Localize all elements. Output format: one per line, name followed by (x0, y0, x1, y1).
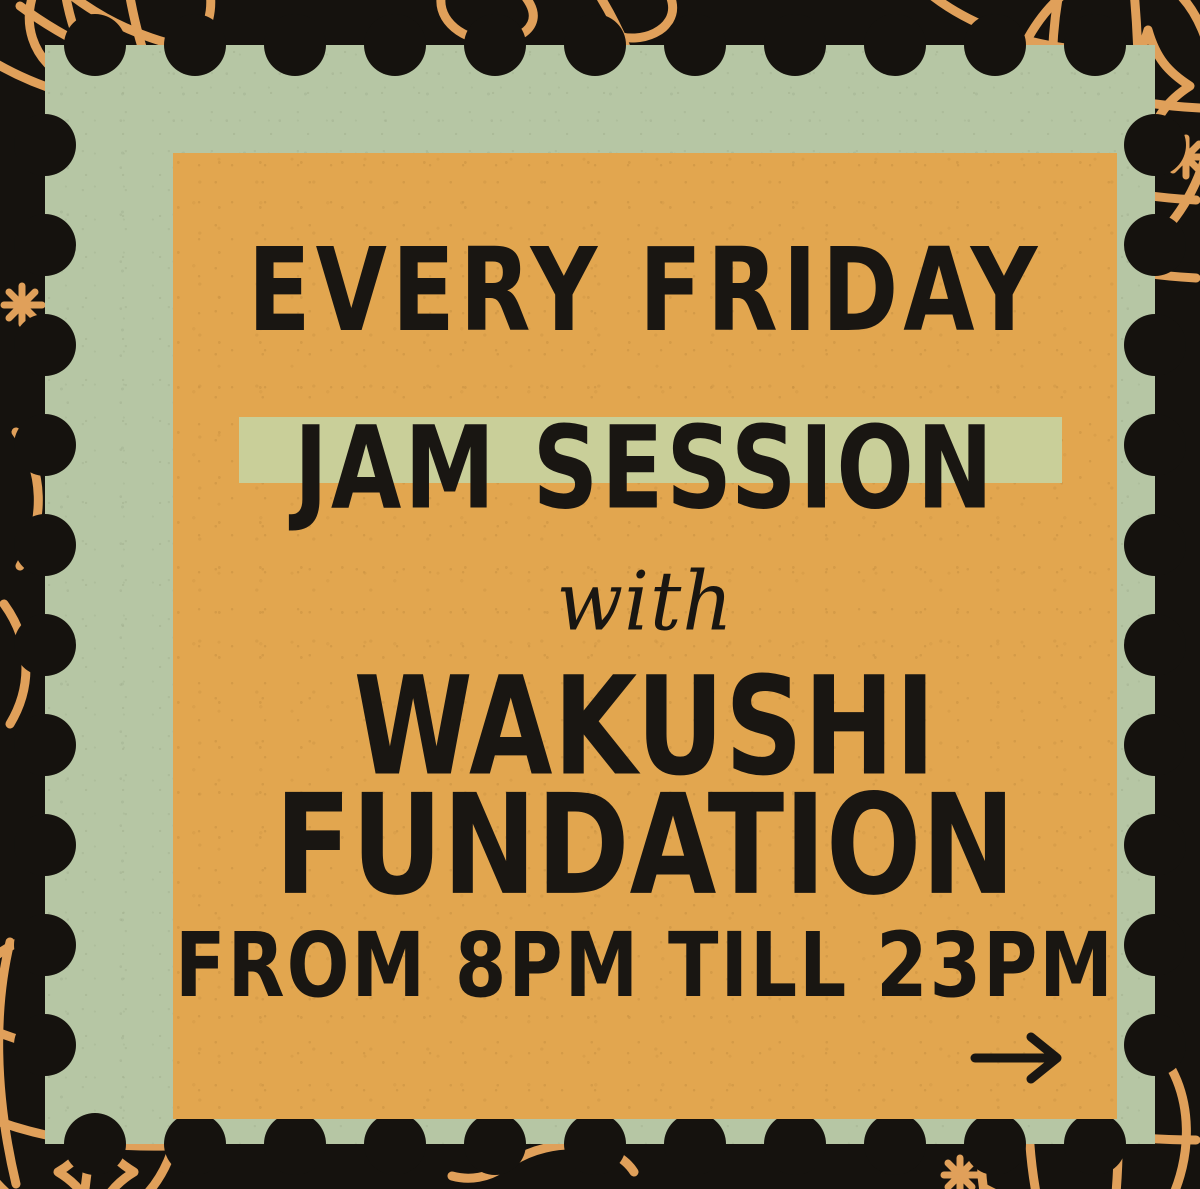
poster-canvas: EVERY FRIDAY JAM SESSION with WAKUSHI FU… (0, 0, 1200, 1189)
connector-script-text: with (173, 555, 1117, 650)
stamp-frame: EVERY FRIDAY JAM SESSION with WAKUSHI FU… (45, 45, 1155, 1144)
poster-copy-stack: EVERY FRIDAY JAM SESSION with WAKUSHI FU… (173, 153, 1117, 1119)
arrow-right-icon (969, 1031, 1065, 1085)
next-slide-arrow-button[interactable] (969, 1031, 1065, 1085)
poster-inner-panel: EVERY FRIDAY JAM SESSION with WAKUSHI FU… (173, 153, 1117, 1119)
recurrence-headline: EVERY FRIDAY (182, 225, 1107, 358)
event-name-headline: JAM SESSION (178, 402, 1113, 535)
event-hours-text: FROM 8PM TILL 23PM (173, 914, 1117, 1017)
artist-name-line-2: FUNDATION (173, 764, 1117, 925)
